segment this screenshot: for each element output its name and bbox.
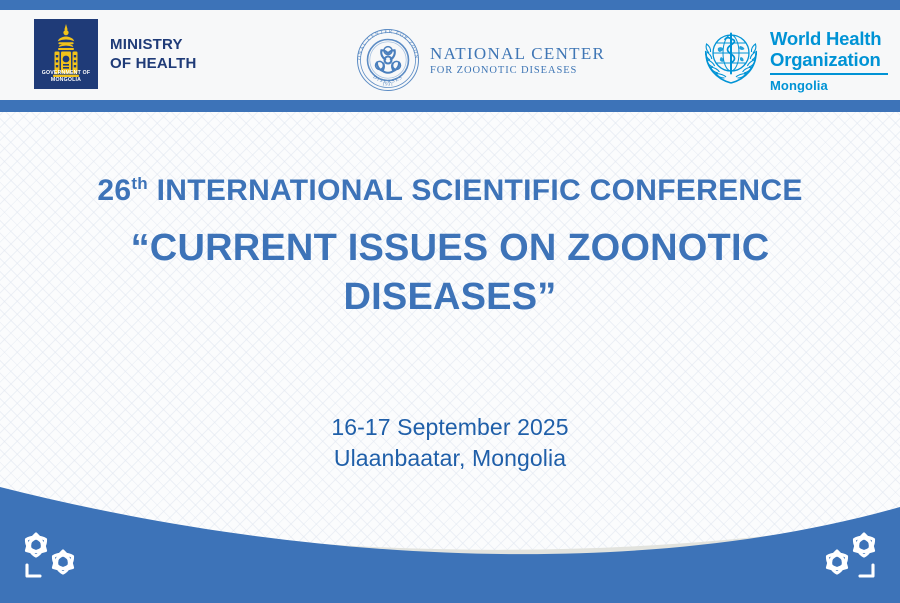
conference-theme-title: “CURRENT ISSUES ON ZOONOTIC DISEASES” [0,224,900,322]
who-name-line1: World Health [770,28,888,49]
header-accent-rule [0,100,900,112]
conference-title-slide: GOVERNMENT OF MONGOLIA MINISTRY OF HEALT… [0,0,900,603]
crest-caption-line2: MONGOLIA [34,77,98,84]
national-center-zoonotic-diseases-logo: NATIONAL CENTER FOR ZOONOTIC DISEASES 19… [352,24,605,96]
conference-edition-title: 26th INTERNATIONAL SCIENTIFIC CONFERENCE [0,172,900,210]
ministry-name-line2: OF HEALTH [110,54,197,73]
ministry-name-line1: MINISTRY [110,35,197,54]
bottom-wave-decoration [0,463,900,603]
mongolia-government-crest: GOVERNMENT OF MONGOLIA [34,19,98,89]
who-name-line2: Organization [770,49,888,70]
who-emblem-icon [700,26,762,88]
who-country: Mongolia [770,78,888,93]
ministry-of-health-logo: GOVERNMENT OF MONGOLIA MINISTRY OF HEALT… [34,19,197,89]
nczd-name: NATIONAL CENTER FOR ZOONOTIC DISEASES [430,43,605,77]
conference-title-rest: INTERNATIONAL SCIENTIFIC CONFERENCE [148,174,803,207]
who-divider [770,73,888,75]
nczd-name-line1: NATIONAL CENTER [430,43,605,64]
title-block: 26th INTERNATIONAL SCIENTIFIC CONFERENCE… [0,172,900,322]
top-accent-rule [0,0,900,10]
svg-text:1931: 1931 [382,82,393,87]
edition-suffix: th [131,174,148,193]
edition-number: 26 [97,174,131,207]
event-date: 16-17 September 2025 [0,412,900,443]
logo-row: GOVERNMENT OF MONGOLIA MINISTRY OF HEALT… [0,10,900,100]
who-name: World Health Organization Mongolia [770,26,888,93]
ministry-of-health-name: MINISTRY OF HEALTH [110,35,197,73]
crest-caption: GOVERNMENT OF MONGOLIA [34,70,98,84]
wave-blue-layer [0,487,900,603]
crest-caption-line1: GOVERNMENT OF [34,70,98,77]
nczd-name-line2: FOR ZOONOTIC DISEASES [430,64,605,77]
nczd-seal-icon: NATIONAL CENTER FOR ZOONOTIC DISEASES 19… [352,24,424,96]
who-logo: World Health Organization Mongolia [700,26,888,93]
